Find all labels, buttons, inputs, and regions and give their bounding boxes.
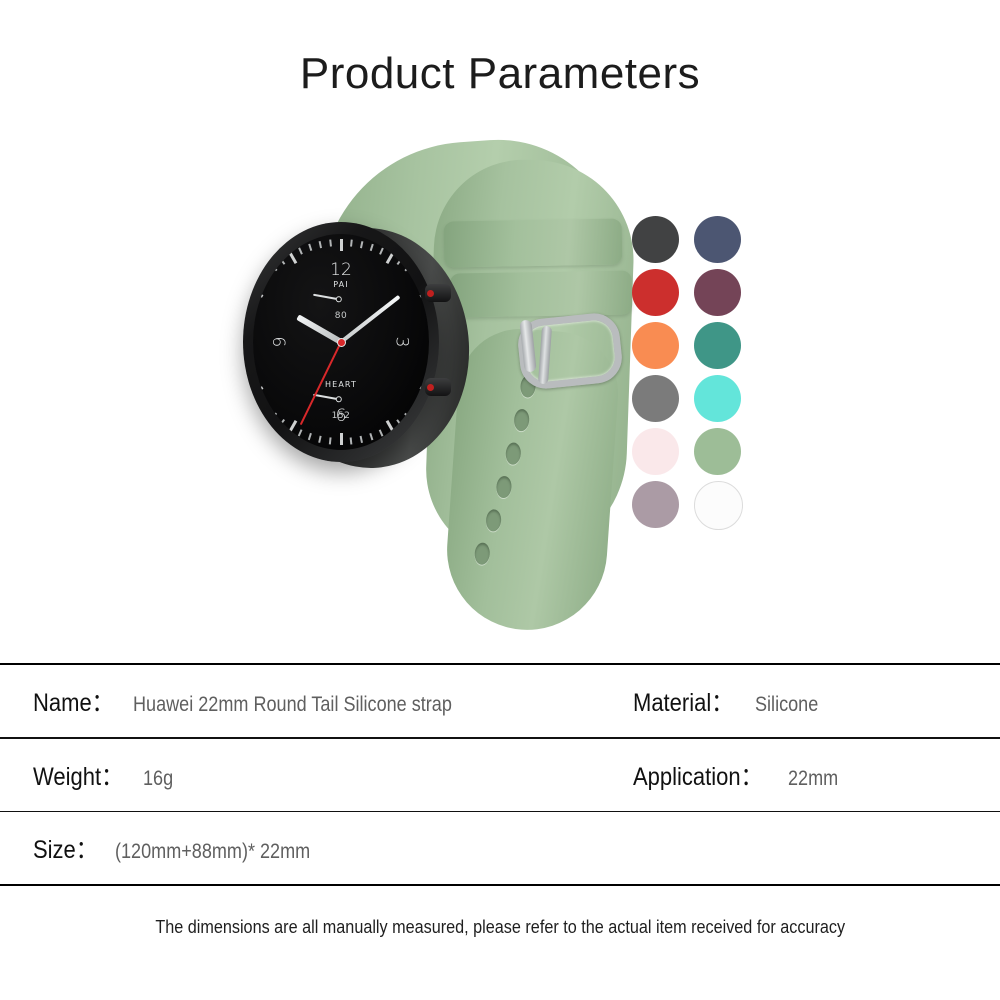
dial-tick: [288, 420, 297, 432]
smartwatch: 12 3 6 9 PAI 80 HEART 152: [243, 222, 475, 474]
spec-cell-weight: Weight： 16g: [33, 757, 178, 793]
strap-hole: [496, 476, 512, 499]
dial-tick: [298, 248, 302, 255]
dial-tick: [397, 258, 402, 265]
color-swatch-charcoal[interactable]: [632, 216, 679, 263]
spec-value-application: 22mm: [788, 767, 838, 791]
dial-tick: [340, 239, 343, 251]
dial-tick: [253, 386, 263, 395]
dial-tick: [379, 429, 383, 436]
dial-tick: [329, 239, 331, 246]
silicone-strap: [0, 130, 1000, 630]
dial-tick: [370, 433, 374, 440]
product-image: 12 3 6 9 PAI 80 HEART 152: [0, 130, 1000, 630]
watch-case: 12 3 6 9 PAI 80 HEART 152: [243, 222, 439, 462]
strap-hole: [474, 542, 490, 565]
footer-note: The dimensions are all manually measured…: [0, 886, 1000, 968]
dial-tick: [319, 241, 322, 248]
table-row: Name： Huawei 22mm Round Tail Silicone st…: [0, 665, 1000, 737]
dial-tick: [418, 281, 425, 286]
dial-tick: [350, 437, 352, 444]
dial-tick: [379, 248, 383, 255]
dial-tick: [257, 281, 264, 286]
dial-tick: [257, 398, 264, 403]
dial-tick: [280, 258, 285, 265]
strap-hole: [485, 509, 501, 532]
watch-bezel: 12 3 6 9 PAI 80 HEART 152: [253, 234, 429, 450]
table-row: Weight： 16g Application： 22mm: [0, 739, 1000, 811]
dial-tick: [288, 252, 297, 264]
spec-label-application: Application：: [633, 757, 763, 793]
dial-tick: [385, 420, 394, 432]
spec-label-weight: Weight：: [33, 757, 123, 793]
dial-tick: [350, 239, 352, 246]
dial-numeral-3: 3: [392, 337, 412, 348]
table-row: Size： (120mm+88mm)* 22mm: [0, 812, 1000, 884]
dial-tick: [412, 272, 418, 278]
pai-subdial-value: 80: [333, 311, 348, 321]
spec-cell-name: Name： Huawei 22mm Round Tail Silicone st…: [33, 683, 503, 719]
dial-tick: [412, 406, 418, 412]
dial-tick: [340, 433, 343, 445]
spec-value-weight: 16g: [143, 767, 173, 791]
dial-tick: [405, 265, 411, 271]
dial-tick: [264, 406, 270, 412]
color-swatch-pale-pink[interactable]: [632, 428, 679, 475]
dial-tick: [308, 433, 312, 440]
dial-tick: [418, 398, 425, 403]
dial-tick: [280, 419, 285, 426]
dial-tick: [370, 244, 374, 251]
dial-tick: [319, 436, 322, 443]
spec-value-name: Huawei 22mm Round Tail Silicone strap: [133, 693, 452, 717]
spec-cell-material: Material： Silicone: [633, 683, 828, 719]
dial-numeral-12: 12: [330, 260, 352, 280]
dial-tick: [405, 413, 411, 419]
strap-hole: [505, 442, 521, 465]
spec-label-name: Name：: [33, 683, 114, 719]
dial-tick: [360, 241, 363, 248]
strap-hole: [513, 409, 529, 432]
spec-label-size: Size：: [33, 830, 98, 866]
color-swatch-teal[interactable]: [694, 322, 741, 369]
spec-value-size: (120mm+88mm)* 22mm: [115, 840, 310, 864]
color-swatch-red[interactable]: [632, 269, 679, 316]
pai-subdial-label: PAI: [333, 280, 348, 289]
dial-numeral-9: 9: [270, 337, 290, 348]
dial-tick: [264, 272, 270, 278]
dial-tick: [271, 413, 277, 419]
dial-tick: [271, 265, 277, 271]
spec-label-material: Material：: [633, 683, 733, 719]
watch-dial: 12 3 6 9 PAI 80 HEART 152: [253, 234, 429, 450]
page-title: Product Parameters: [0, 52, 1000, 96]
dial-tick: [385, 252, 394, 264]
color-swatch-wine[interactable]: [694, 269, 741, 316]
footer-note-text: The dimensions are all manually measured…: [155, 917, 845, 938]
strap-keeper-loop: [450, 270, 633, 317]
spec-table: Name： Huawei 22mm Round Tail Silicone st…: [0, 663, 1000, 968]
dial-tick: [298, 429, 302, 436]
dial-tick: [308, 244, 312, 251]
dial-tick: [329, 437, 331, 444]
color-swatch-mauve[interactable]: [632, 481, 679, 528]
color-swatch-orange[interactable]: [632, 322, 679, 369]
heart-subdial-label: HEART: [325, 380, 357, 389]
color-swatch-grid[interactable]: [632, 216, 744, 534]
color-swatch-turquoise[interactable]: [694, 375, 741, 422]
color-swatch-gray[interactable]: [632, 375, 679, 422]
heart-subdial-value: 152: [325, 411, 357, 421]
spec-value-material: Silicone: [755, 693, 818, 717]
color-swatch-sage-green[interactable]: [694, 428, 741, 475]
color-swatch-slate-blue[interactable]: [694, 216, 741, 263]
dial-tick: [253, 380, 254, 384]
dial-tick: [253, 289, 263, 298]
hands-center-cap: [337, 338, 346, 347]
dial-tick: [397, 419, 402, 426]
spec-cell-application: Application： 22mm: [633, 757, 847, 793]
spec-cell-size: Size： (120mm+88mm)* 22mm: [33, 830, 342, 866]
color-swatch-white[interactable]: [694, 481, 743, 530]
dial-tick: [360, 436, 363, 443]
dial-tick: [253, 299, 254, 303]
